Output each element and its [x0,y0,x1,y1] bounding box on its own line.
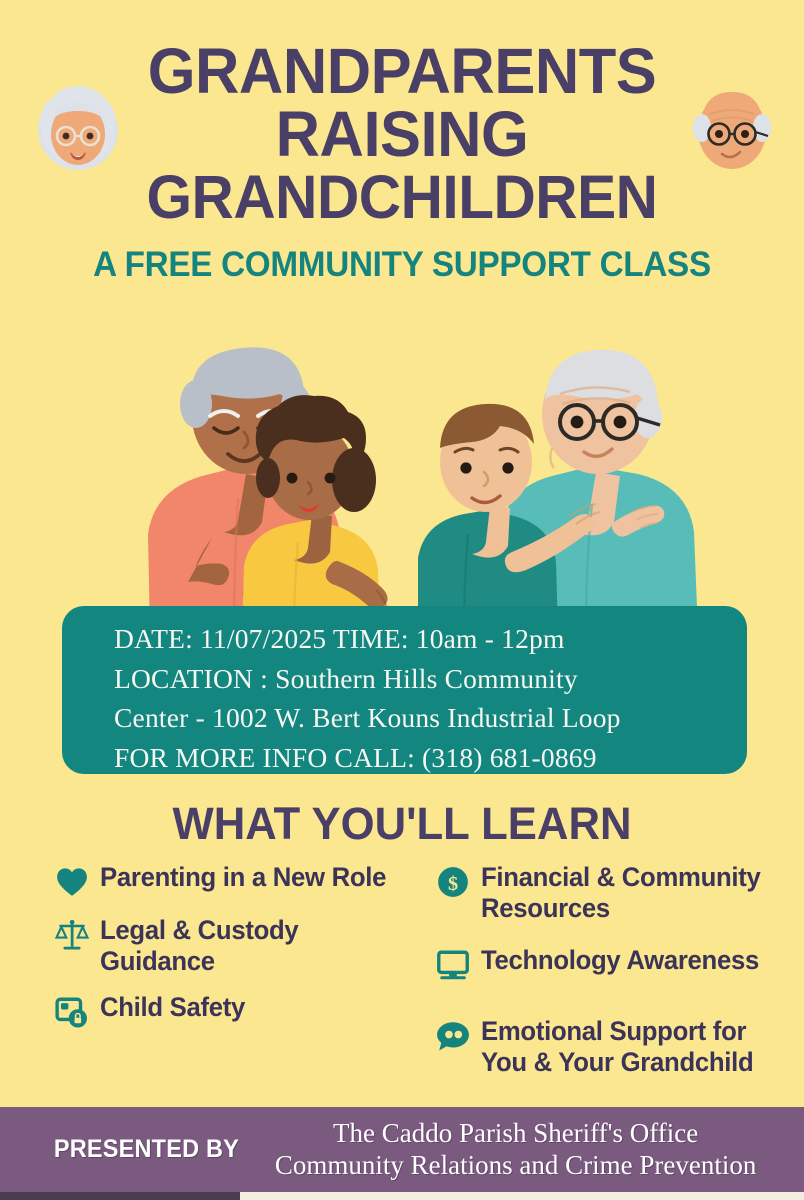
org-line-2: Community Relations and Crime Prevention [275,1150,756,1182]
footer-bottom-strip-dark [0,1192,240,1200]
title-line-3: GRANDCHILDREN [16,167,788,227]
learn-section-heading: WHAT YOU'LL LEARN [12,798,792,850]
learn-item-technology-awareness: Technology Awareness [436,945,796,982]
monitor-icon [436,948,470,982]
learn-item-label: Child Safety [100,992,245,1023]
dollar-circle-icon: $ [436,865,470,899]
flyer-poster: GRANDPARENTS RAISING GRANDCHILDREN A FRE… [0,0,804,1200]
svg-text:$: $ [448,873,458,895]
title-line-1: GRANDPARENTS [16,40,788,103]
learn-column-left: Parenting in a New Role Legal & Custody … [55,862,425,1045]
learn-item-label: Technology Awareness [481,945,759,976]
event-info-box: DATE: 11/07/2025 TIME: 10am - 12pm LOCAT… [62,606,747,774]
learn-item-financial-resources: $ Financial & Community Resources [436,862,796,923]
learn-item-label: Financial & Community Resources [481,862,787,923]
learn-item-label: Parenting in a New Role [100,862,386,893]
info-line-date-time: DATE: 11/07/2025 TIME: 10am - 12pm [114,619,747,659]
learn-item-label: Emotional Support for You & Your Grandch… [481,1016,787,1077]
learn-item-legal-custody: Legal & Custody Guidance [55,915,425,976]
learn-columns: Parenting in a New Role Legal & Custody … [0,862,804,1102]
learn-item-emotional-support: Emotional Support for You & Your Grandch… [436,1016,796,1077]
learn-column-right: $ Financial & Community Resources Techno… [436,862,796,1094]
title-line-2: RAISING [16,103,788,166]
shield-lock-icon [55,995,89,1029]
org-line-1: The Caddo Parish Sheriff's Office [275,1118,756,1150]
subtitle: A FREE COMMUNITY SUPPORT CLASS [20,245,784,285]
info-line-phone: FOR MORE INFO CALL: (318) 681-0869 [114,738,747,778]
heart-icon [55,865,89,899]
title-block: GRANDPARENTS RAISING GRANDCHILDREN A FRE… [0,40,804,285]
scales-of-justice-icon [55,918,89,952]
learn-item-label: Legal & Custody Guidance [100,915,415,976]
footer-bar: PRESENTED BY The Caddo Parish Sheriff's … [0,1107,804,1192]
info-line-location-1: LOCATION : Southern Hills Community [114,659,747,699]
presenting-organization: The Caddo Parish Sheriff's Office Commun… [275,1118,756,1182]
learn-item-child-safety: Child Safety [55,992,425,1029]
info-line-location-2: Center - 1002 W. Bert Kouns Industrial L… [114,698,747,738]
learn-item-parenting: Parenting in a New Role [55,862,425,899]
presented-by-label: PRESENTED BY [54,1135,239,1164]
family-illustration [0,322,804,632]
speech-bubble-icon [436,1019,470,1053]
